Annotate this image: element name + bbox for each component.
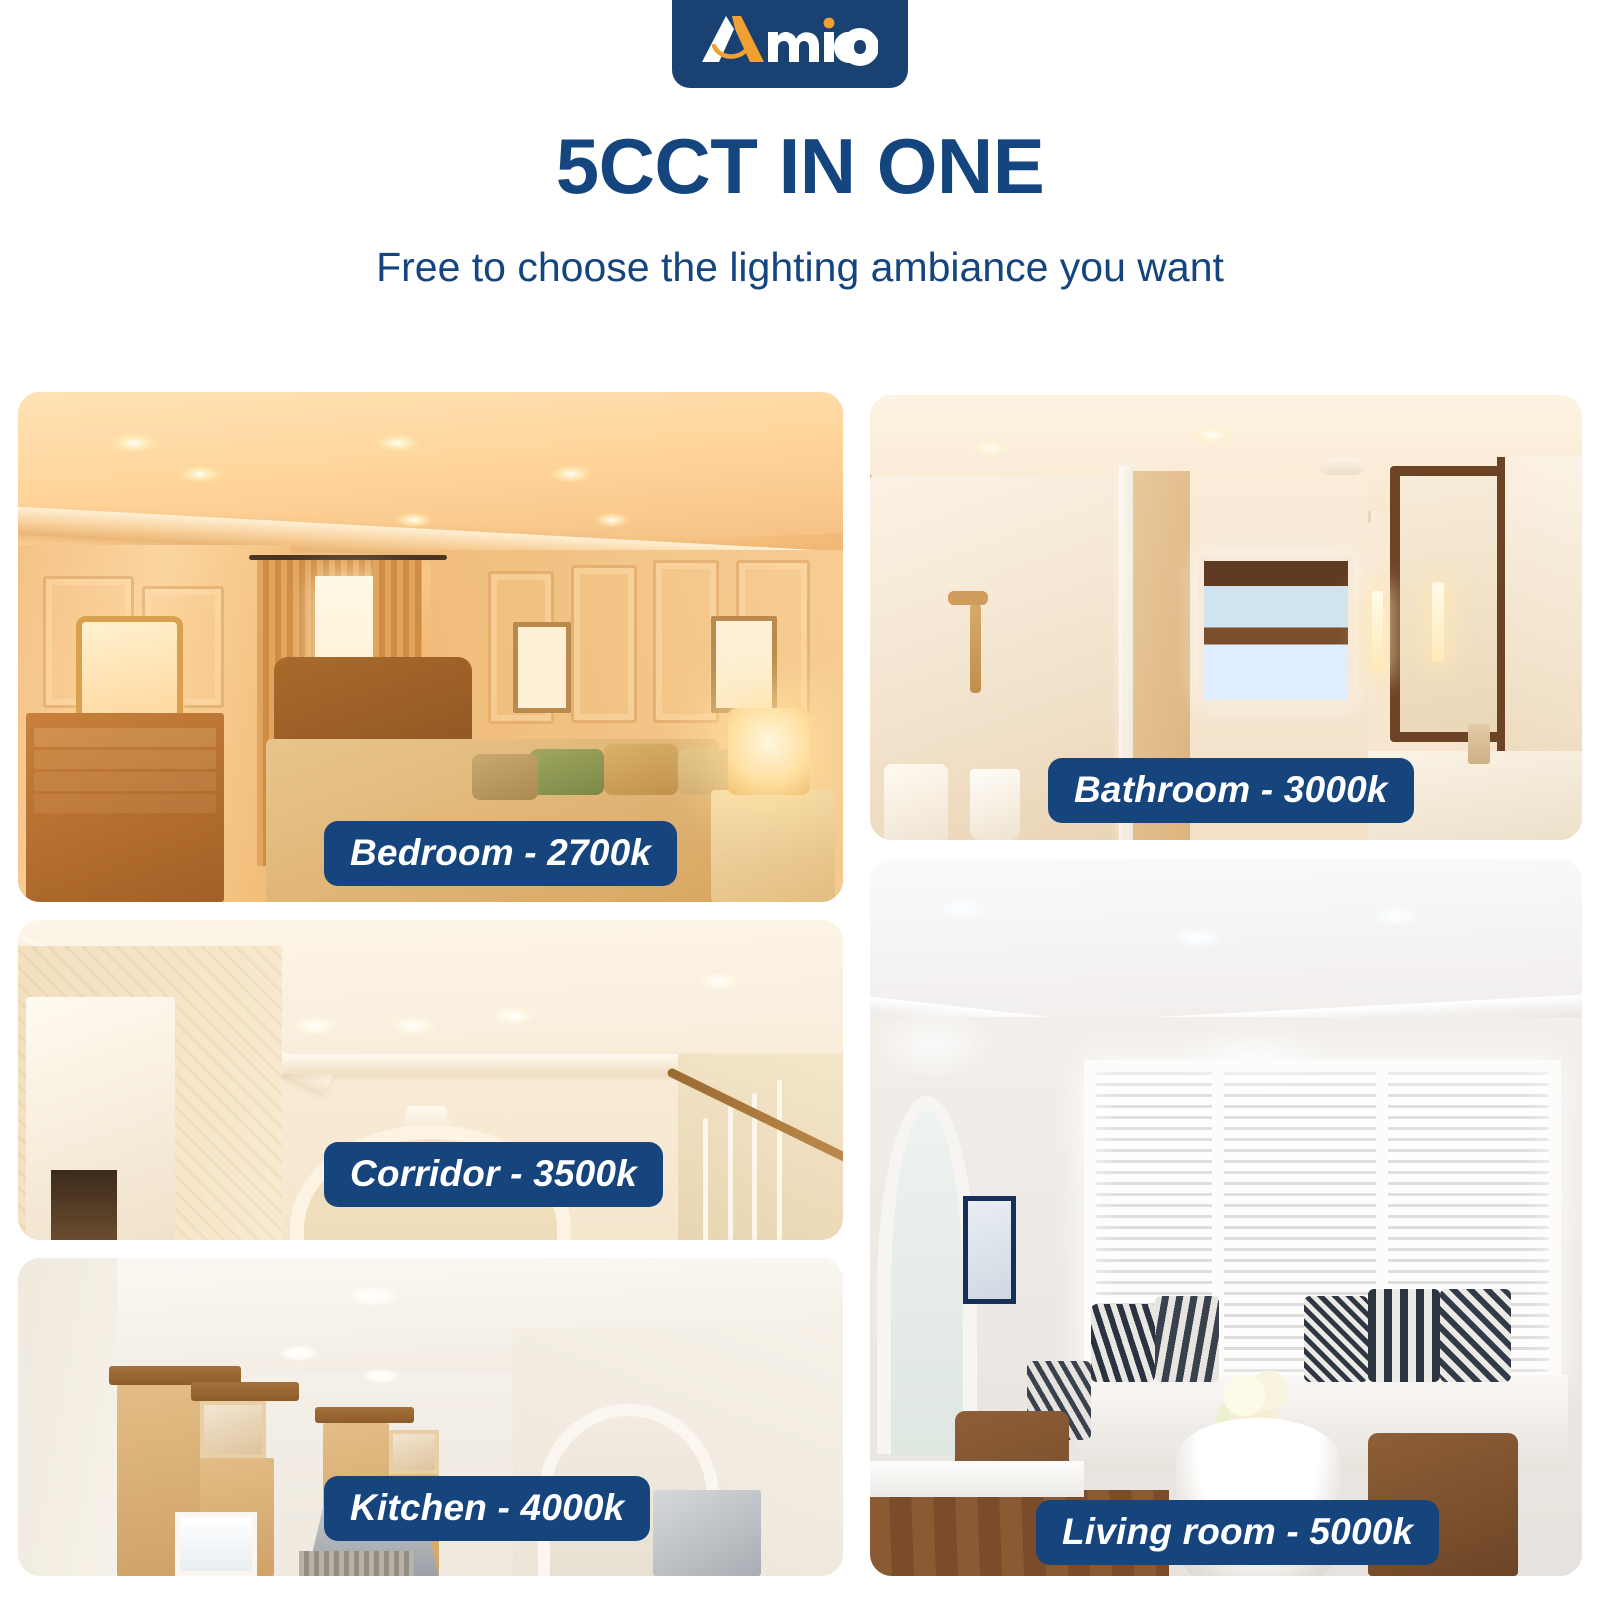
panel-label-corridor: Corridor - 3500k	[324, 1142, 663, 1207]
gallery-panel-living-room[interactable]: Living room - 5000k	[870, 859, 1582, 1576]
gallery-panel-bathroom[interactable]: Bathroom - 3000k	[870, 395, 1582, 840]
panel-label-kitchen: Kitchen - 4000k	[324, 1476, 650, 1541]
living-room-scene-image	[870, 859, 1582, 1576]
page-title: 5CCT IN ONE	[0, 126, 1600, 208]
gallery-panel-corridor[interactable]: Corridor - 3500k	[18, 920, 843, 1240]
page-subtitle: Free to choose the lighting ambiance you…	[0, 243, 1600, 292]
gallery-panel-kitchen[interactable]: Kitchen - 4000k	[18, 1258, 843, 1576]
gallery-panel-bedroom[interactable]: Bedroom - 2700k	[18, 392, 843, 902]
panel-label-bedroom: Bedroom - 2700k	[324, 821, 677, 886]
panel-label-living-room: Living room - 5000k	[1036, 1500, 1439, 1565]
panel-label-bathroom: Bathroom - 3000k	[1048, 758, 1414, 823]
product-feature-page: 5CCT IN ONE Free to choose the lighting …	[0, 0, 1600, 1600]
brand-logo-badge	[672, 0, 908, 88]
amico-logo-icon	[702, 16, 878, 70]
